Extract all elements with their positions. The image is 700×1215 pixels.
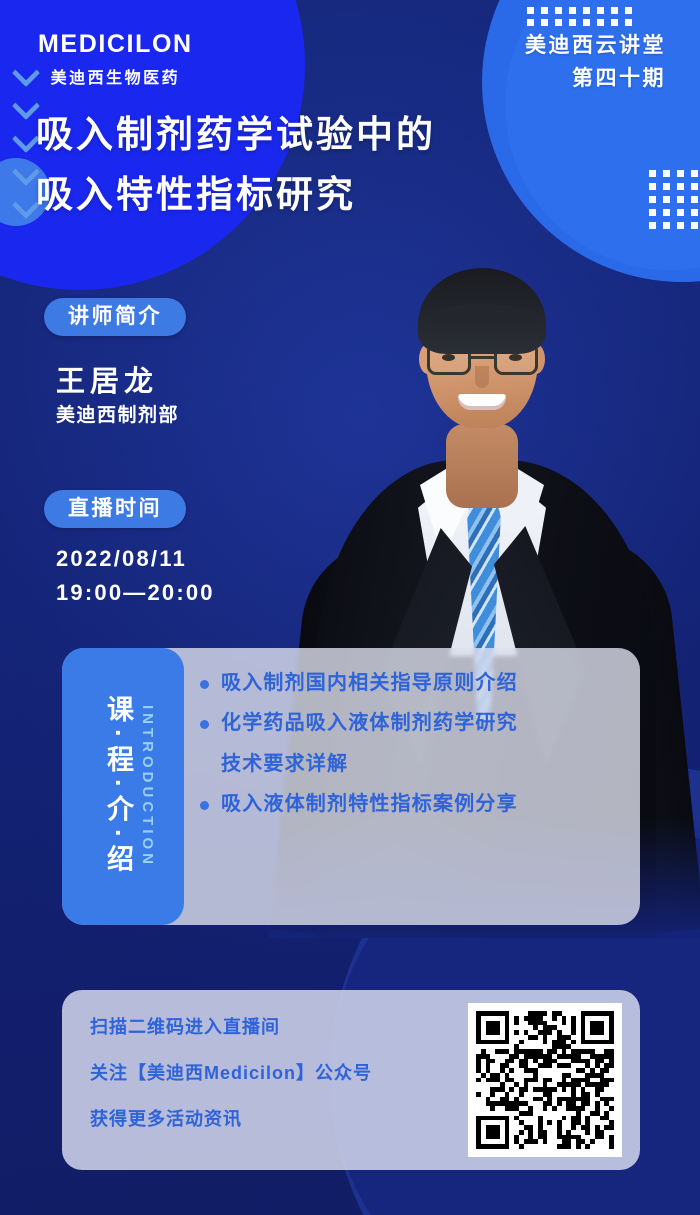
dot [583,19,590,26]
course-topic-text: 吸入液体制剂特性指标案例分享 [221,789,624,819]
photo-neck [446,424,518,508]
course-topic-text: 技术要求详解 [221,749,624,779]
dot [663,183,670,190]
dot-grid-right-edge [649,170,700,235]
dot [583,7,590,14]
course-intro-tab: 课·程·介·绍 INTRODUCTION [62,648,184,925]
dot [691,209,698,216]
live-date: 2022/08/11 [56,546,187,572]
brand-logo-en: MEDICILON [38,32,193,57]
brand-logo: MEDICILON 美迪西生物医药 [38,32,193,88]
dot [527,19,534,26]
dot [677,196,684,203]
dot [649,222,656,229]
speaker-department: 美迪西制剂部 [56,400,179,427]
bullet-icon [200,680,209,689]
bullet-icon [200,801,209,810]
course-topic-item: 化学药品吸入液体制剂药学研究 [200,708,624,738]
dot [527,7,534,14]
dot [625,7,632,14]
course-topic-text: 化学药品吸入液体制剂药学研究 [221,708,624,738]
speaker-section-badge: 讲师简介 [44,298,186,336]
brand-logo-cn: 美迪西生物医药 [38,64,193,88]
dot [691,222,698,229]
course-topic-item: 吸入制剂国内相关指导原则介绍 [200,668,624,698]
dot [649,183,656,190]
bullet-icon [200,761,209,770]
course-topic-list: 吸入制剂国内相关指导原则介绍化学药品吸入液体制剂药学研究技术要求详解吸入液体制剂… [200,668,624,907]
page-title-line-2: 吸入特性指标研究 [36,165,436,225]
issue-series-name: 美迪西云讲堂 [525,30,666,63]
dot [663,209,670,216]
photo-nose [475,366,489,388]
dot [691,170,698,177]
page-title: 吸入制剂药学试验中的 吸入特性指标研究 [36,105,436,225]
live-time-range: 19:00—20:00 [56,580,215,606]
dot-grid-top-right [527,7,639,31]
dot [663,170,670,177]
qr-code-matrix [476,1011,614,1149]
qr-cta-panel: 扫描二维码进入直播间 关注【美迪西Medicilon】公众号 获得更多活动资讯 [62,990,640,1170]
course-intro-panel: 课·程·介·绍 INTRODUCTION 吸入制剂国内相关指导原则介绍化学药品吸… [62,648,640,925]
dot [663,196,670,203]
dot [691,183,698,190]
course-intro-tab-en: INTRODUCTION [139,705,156,868]
issue-number: 第四十期 [525,63,666,96]
course-topic-item: 技术要求详解 [200,749,624,779]
dot [597,7,604,14]
webinar-poster: MEDICILON 美迪西生物医药 美迪西云讲堂 第四十期 吸入制剂药学试验中的… [0,0,700,1215]
qr-code[interactable] [468,1003,622,1157]
qr-instructions: 扫描二维码进入直播间 关注【美迪西Medicilon】公众号 获得更多活动资讯 [90,1018,372,1156]
qr-instruction-line-2: 关注【美迪西Medicilon】公众号 [90,1064,372,1082]
dot [569,7,576,14]
chevron-down-icon [13,60,39,86]
page-title-line-1: 吸入制剂药学试验中的 [36,105,436,165]
dot [691,196,698,203]
bullet-icon [200,720,209,729]
dot [649,209,656,216]
dot [555,7,562,14]
course-topic-item: 吸入液体制剂特性指标案例分享 [200,789,624,819]
photo-hair [418,268,546,354]
qr-module [609,1144,614,1149]
dot [555,19,562,26]
course-topic-text: 吸入制剂国内相关指导原则介绍 [221,668,624,698]
live-time-badge: 直播时间 [44,490,186,528]
dot [649,196,656,203]
dot [663,222,670,229]
dot [611,19,618,26]
dot [611,7,618,14]
dot [541,7,548,14]
dot [625,19,632,26]
glasses-bridge [471,356,494,359]
dot [677,222,684,229]
dot [677,183,684,190]
dot [569,19,576,26]
issue-label: 美迪西云讲堂 第四十期 [525,30,666,95]
dot [677,170,684,177]
dot [649,170,656,177]
dot [541,19,548,26]
photo-mouth [458,394,506,410]
course-intro-tab-cn: 课·程·介·绍 [104,695,131,879]
dot [597,19,604,26]
speaker-name: 王居龙 [56,358,158,400]
qr-instruction-line-3: 获得更多活动资讯 [90,1110,372,1128]
qr-instruction-line-1: 扫描二维码进入直播间 [90,1018,372,1036]
dot [677,209,684,216]
